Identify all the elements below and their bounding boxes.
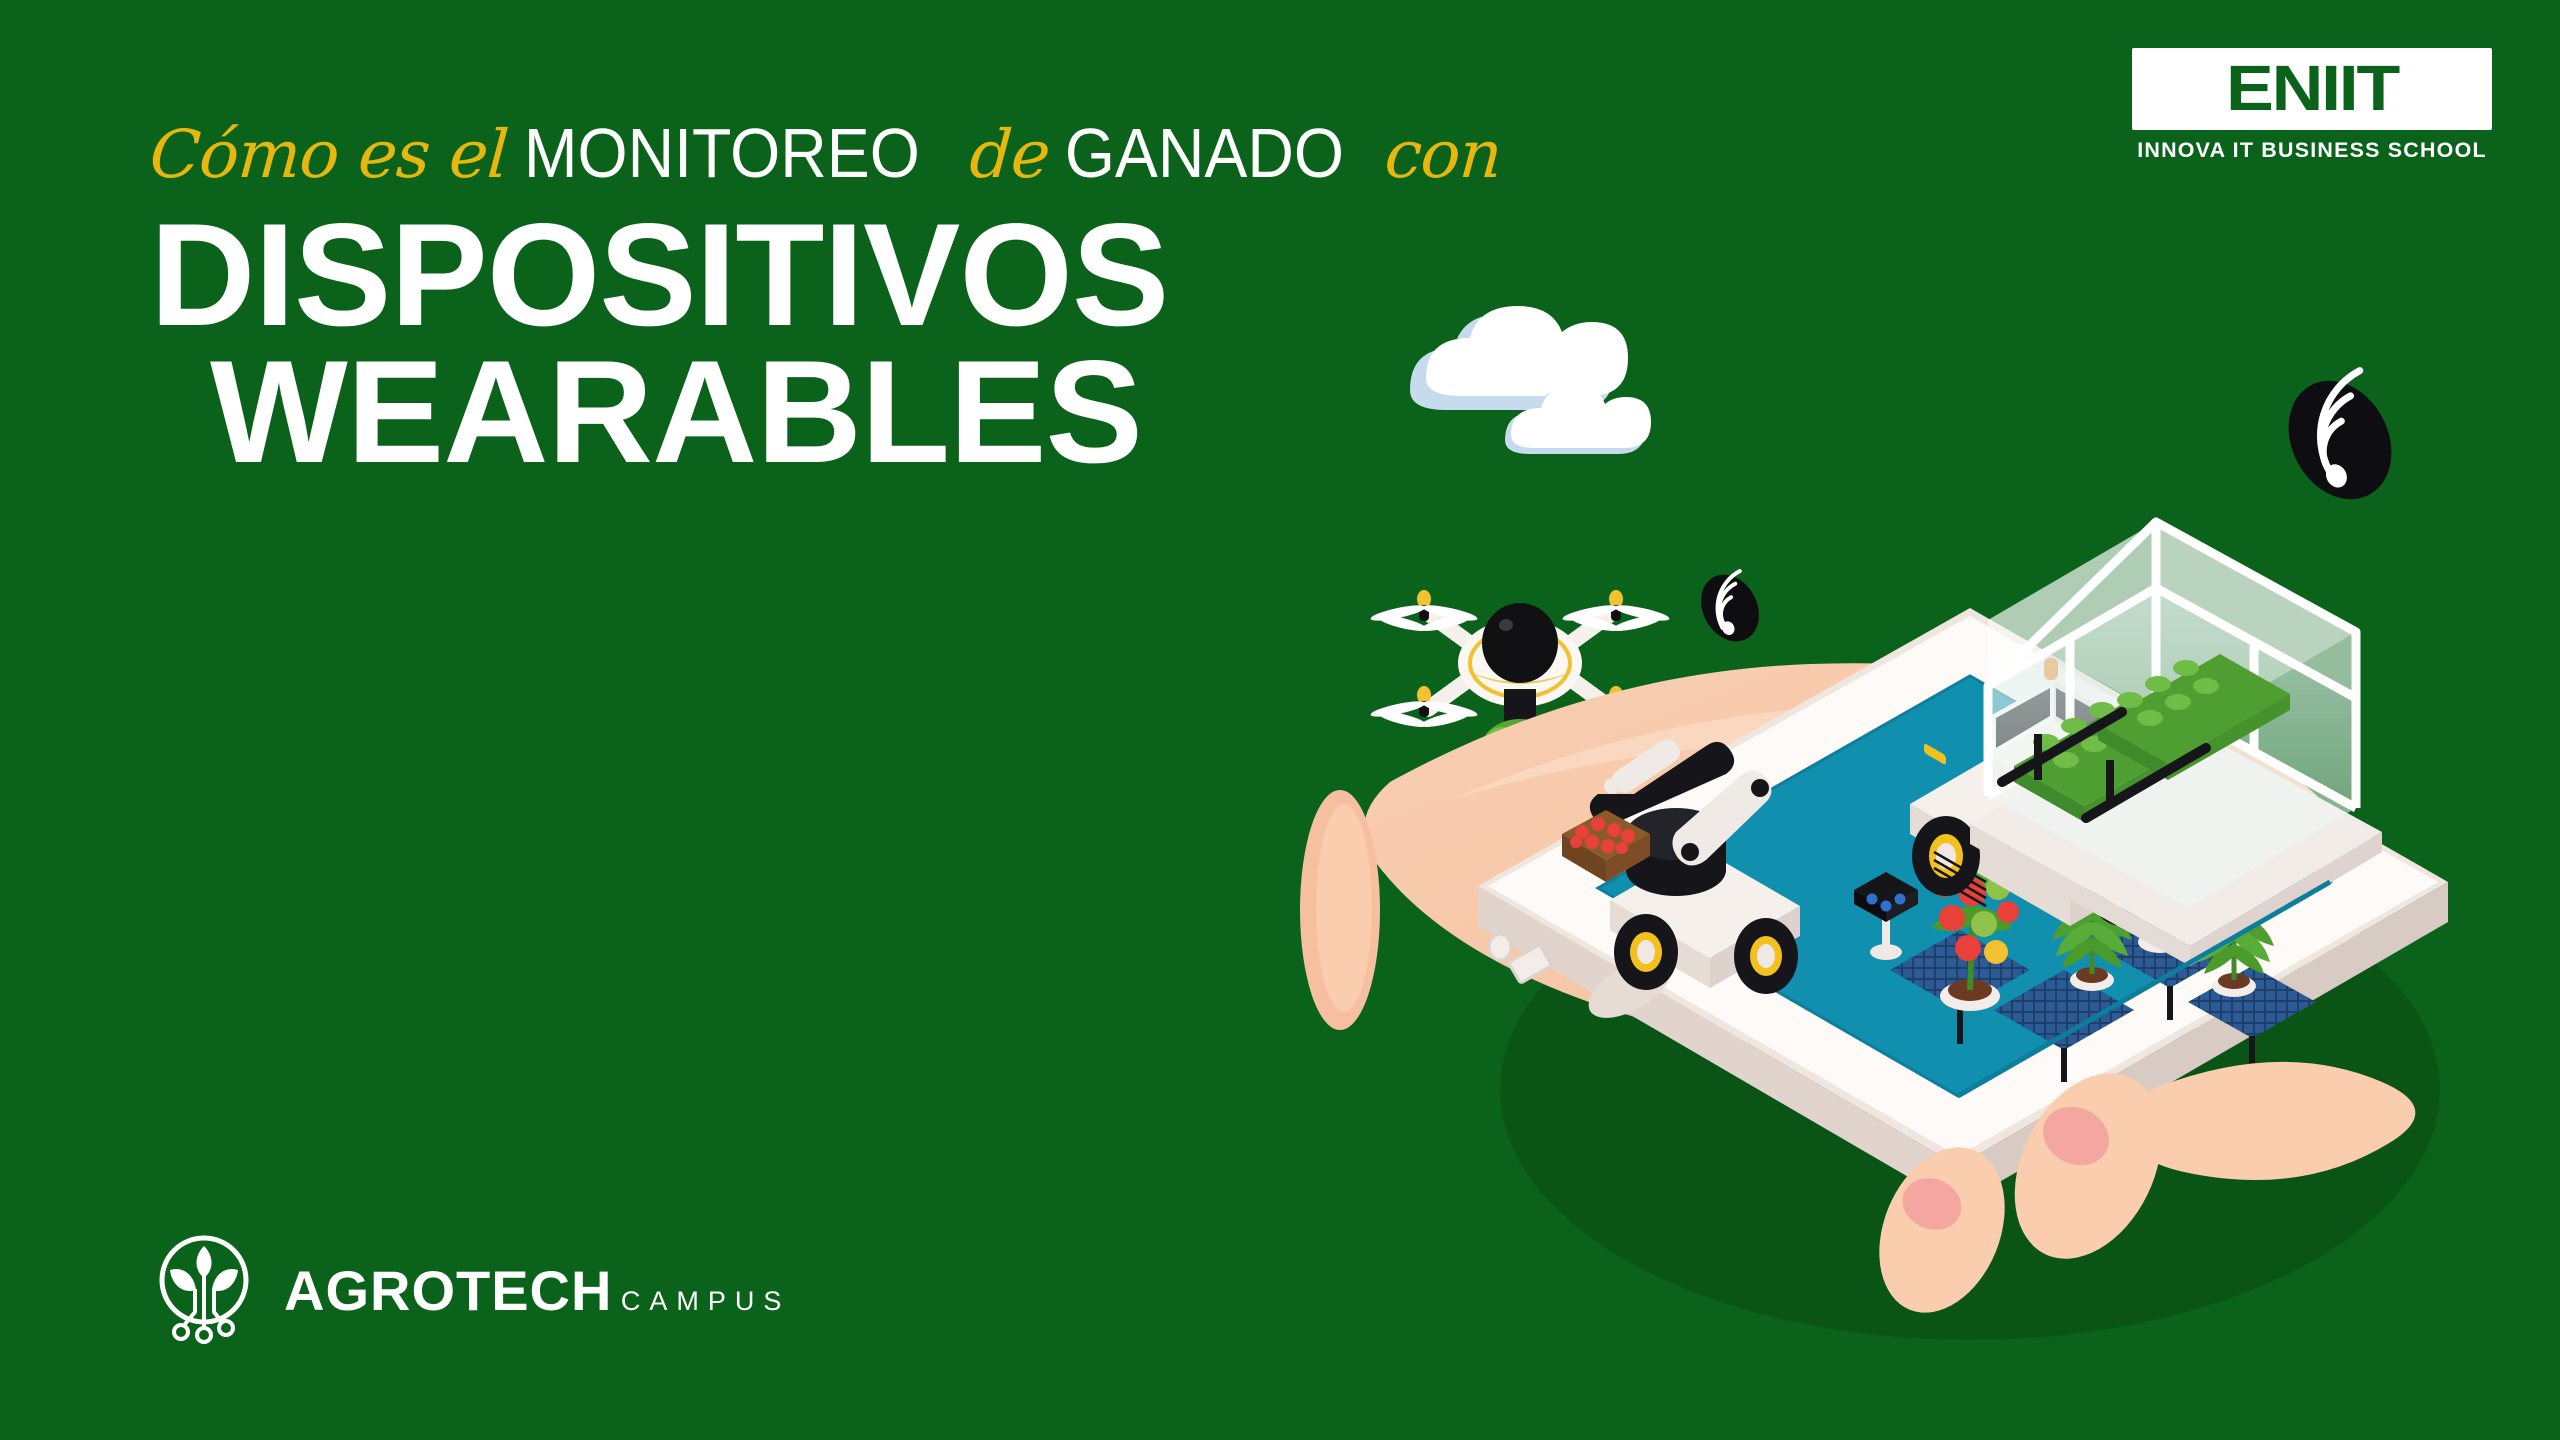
eniit-logo-box: ENIIT: [2132, 48, 2492, 130]
kicker-cap-monitoreo: MONITOREO: [522, 118, 922, 188]
title-line-1: DISPOSITIVOS: [150, 206, 1650, 343]
banner-root: Cómo es el MONITOREO de GANADO con DISPO…: [0, 0, 2560, 1440]
agrotech-logo-text: AGROTECH CAMPUS: [284, 1263, 790, 1319]
smart-farm-illustration: [1330, 330, 2560, 1390]
phone-headphone-jack: [1489, 934, 1511, 960]
wifi-icon-large: [2269, 362, 2414, 517]
eniit-wordmark: ENIIT: [2128, 56, 2495, 120]
leaf-circuit-circle-icon: [150, 1232, 258, 1350]
eniit-tagline: INNOVA IT BUSINESS SCHOOL: [2128, 139, 2495, 163]
kicker-script-3: con: [1382, 122, 1503, 188]
kicker-cap-ganado: GANADO: [1063, 118, 1346, 188]
agrotech-logo[interactable]: AGROTECH CAMPUS: [150, 1232, 790, 1350]
eniit-logo[interactable]: ENIIT INNOVA IT BUSINESS SCHOOL: [2132, 48, 2492, 163]
kicker-script-1: Cómo es el: [148, 122, 510, 188]
kicker-script-2: de: [968, 122, 1052, 188]
agrotech-name: AGROTECH: [284, 1259, 612, 1322]
headline-kicker: Cómo es el MONITOREO de GANADO con: [150, 118, 1650, 188]
agrotech-subtitle: CAMPUS: [617, 1286, 791, 1316]
wifi-icon-small: [1690, 564, 1771, 651]
